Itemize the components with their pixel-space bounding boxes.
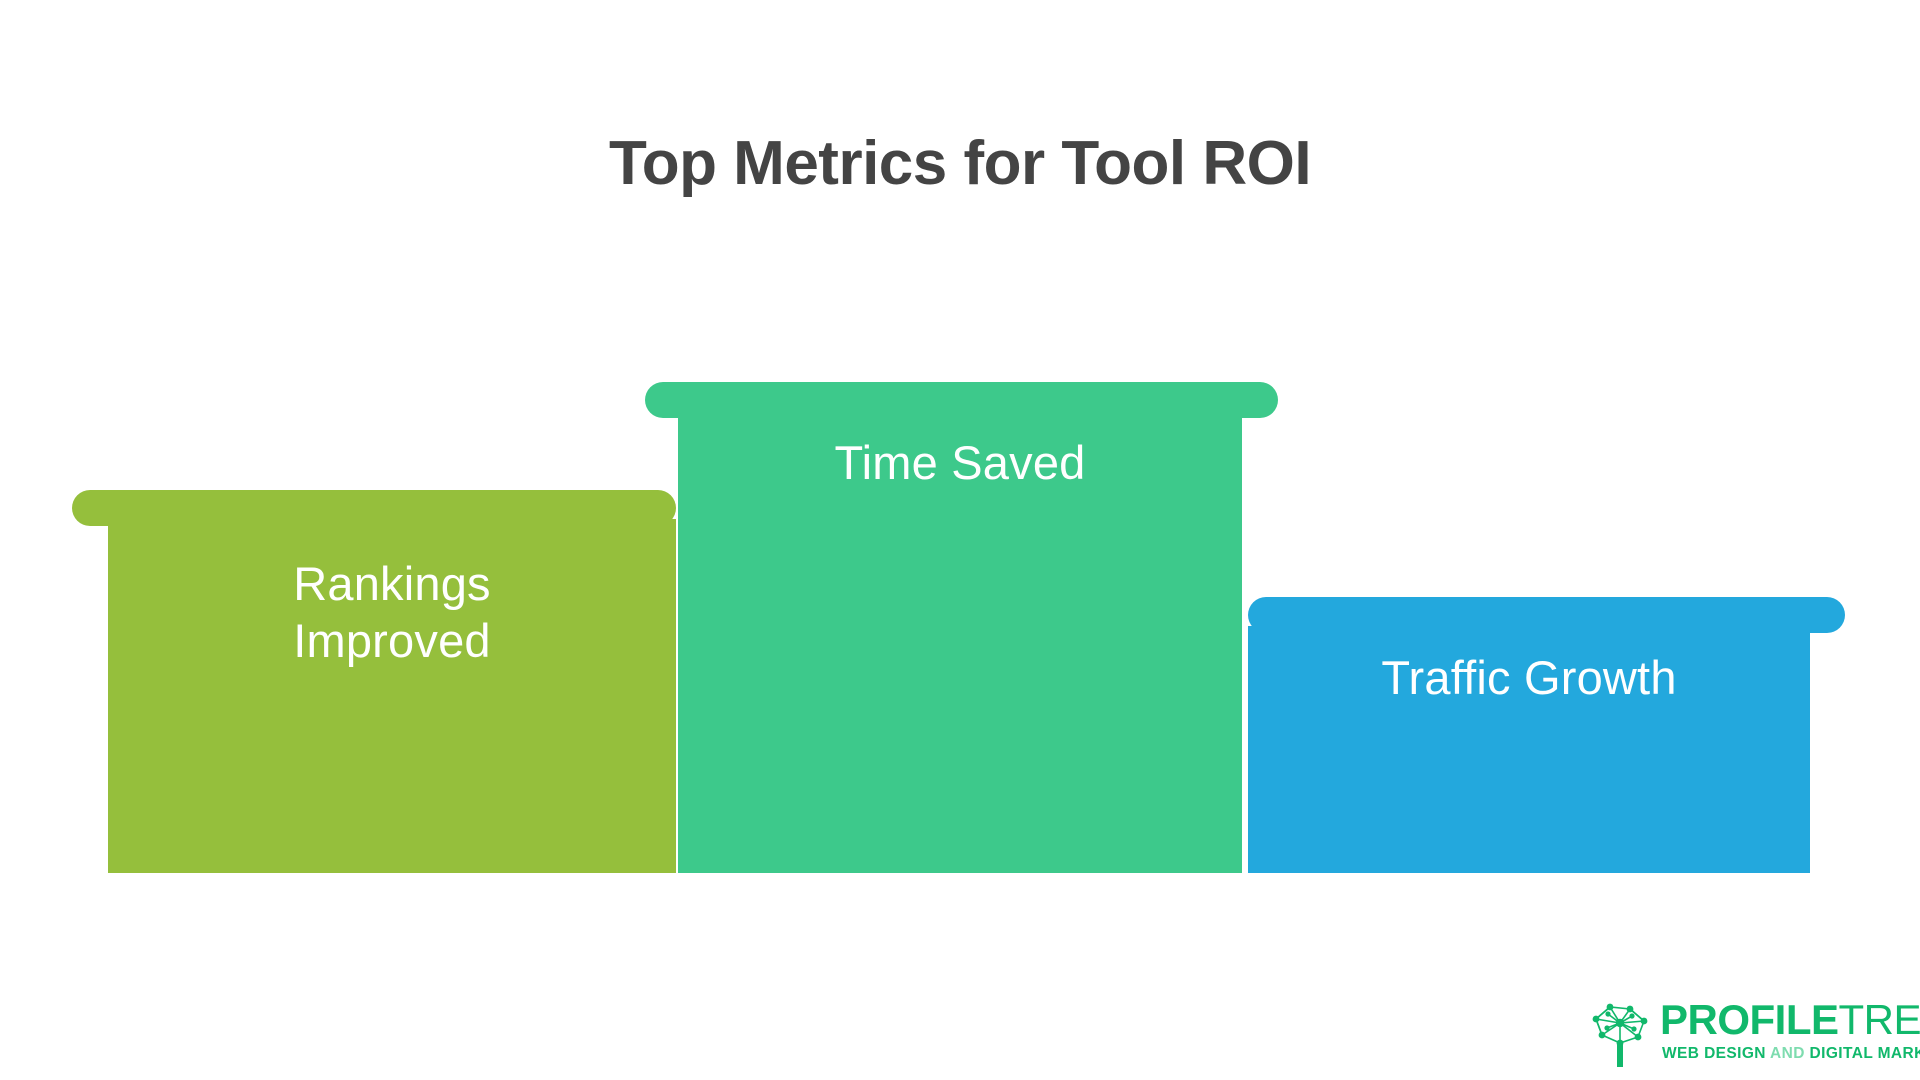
- bar-rankings-improved[interactable]: Rankings Improved: [72, 490, 676, 873]
- bar-traffic-growth[interactable]: Traffic Growth: [1248, 597, 1845, 873]
- profiletree-tree-network-icon: [1586, 997, 1658, 1069]
- bar-label-traffic-growth: Traffic Growth: [1248, 649, 1810, 706]
- tagline-part-2: AND: [1770, 1045, 1805, 1062]
- logo-word-profile: PROFILE: [1660, 996, 1839, 1043]
- bar-time-saved[interactable]: Time Saved: [645, 382, 1278, 873]
- chart-plot-area: Rankings Improved Time Saved Traffic Gro…: [0, 0, 1920, 1080]
- bar-label-time-saved: Time Saved: [678, 434, 1242, 491]
- logo-word-tree: TREE: [1839, 996, 1920, 1043]
- profiletree-tagline: WEB DESIGN AND DIGITAL MARKETING: [1662, 1045, 1920, 1063]
- profiletree-logo: PROFILETREE WEB DESIGN AND DIGITAL MARKE…: [1586, 997, 1898, 1069]
- profiletree-wordmark: PROFILETREE: [1660, 999, 1920, 1041]
- bar-label-rankings-improved: Rankings Improved: [108, 555, 676, 670]
- tagline-part-1: WEB DESIGN: [1662, 1045, 1766, 1062]
- tagline-part-3: DIGITAL MARKETING: [1810, 1045, 1920, 1062]
